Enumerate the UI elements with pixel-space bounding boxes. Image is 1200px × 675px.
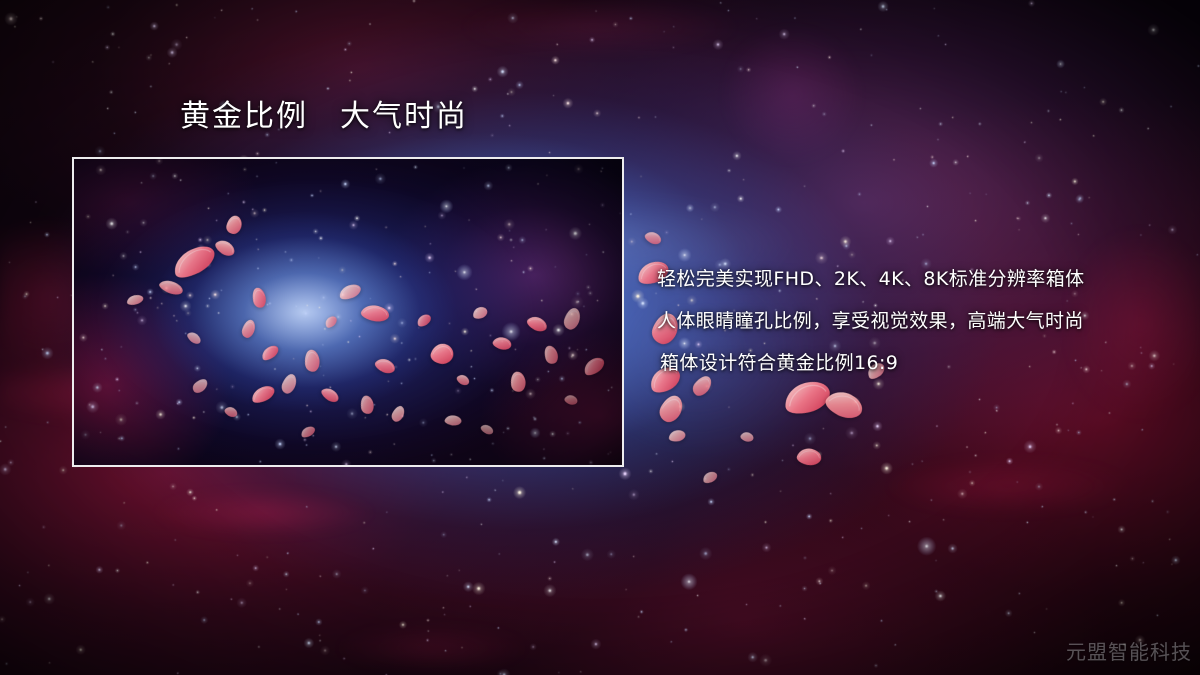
petal xyxy=(795,446,824,468)
page-title: 黄金比例 大气时尚 xyxy=(180,100,468,133)
brand-watermark: 元盟智能科技 xyxy=(1066,636,1192,665)
slide-canvas: 黄金比例 大气时尚 轻松完美实现FHD、2K、4K、8K标准分辨率箱体 人体眼睛… xyxy=(0,0,1200,675)
description-line-1: 轻松完美实现FHD、2K、4K、8K标准分辨率箱体 xyxy=(657,258,1177,300)
description-line-2: 人体眼睛瞳孔比例，享受视觉效果，高端大气时尚 xyxy=(657,300,1177,342)
petal xyxy=(701,469,720,485)
petal xyxy=(820,385,867,425)
description-line-3: 箱体设计符合黄金比例16:9 xyxy=(657,342,1177,384)
petal xyxy=(655,391,687,427)
feature-description: 轻松完美实现FHD、2K、4K、8K标准分辨率箱体 人体眼睛瞳孔比例，享受视觉效… xyxy=(657,258,1177,384)
petal xyxy=(667,429,686,443)
petal xyxy=(739,430,755,444)
screen-panel-vignette xyxy=(74,159,622,465)
screen-panel-frame xyxy=(72,157,624,467)
petal xyxy=(642,228,664,247)
